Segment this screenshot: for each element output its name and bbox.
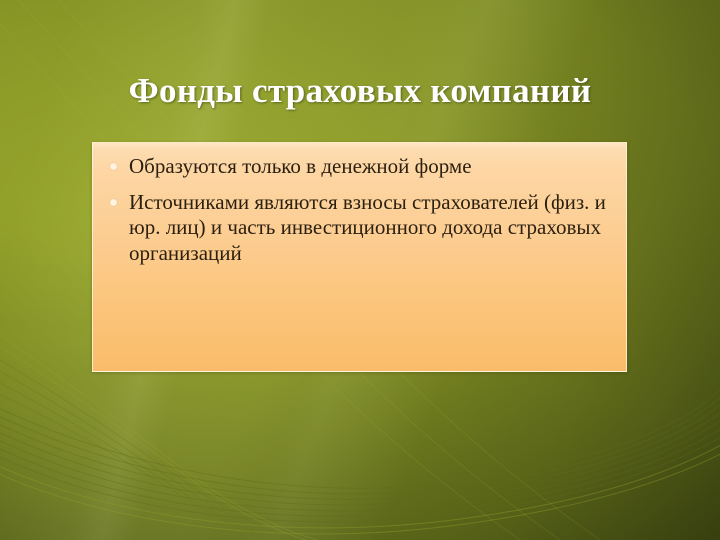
list-item: Образуются только в денежной форме — [107, 154, 610, 180]
round-bullet-icon — [110, 199, 117, 206]
bullet-text: Источниками являются взносы страхователе… — [129, 190, 610, 267]
slide-title: Фонды страховых компаний — [36, 70, 684, 112]
content-placeholder: Образуются только в денежной форме Источ… — [92, 142, 627, 372]
bullet-text: Образуются только в денежной форме — [129, 154, 610, 180]
presentation-slide: Фонды страховых компаний Образуются толь… — [0, 0, 720, 540]
list-item: Источниками являются взносы страхователе… — [107, 190, 610, 267]
round-bullet-icon — [110, 163, 117, 170]
bullet-list: Образуются только в денежной форме Источ… — [107, 154, 610, 266]
